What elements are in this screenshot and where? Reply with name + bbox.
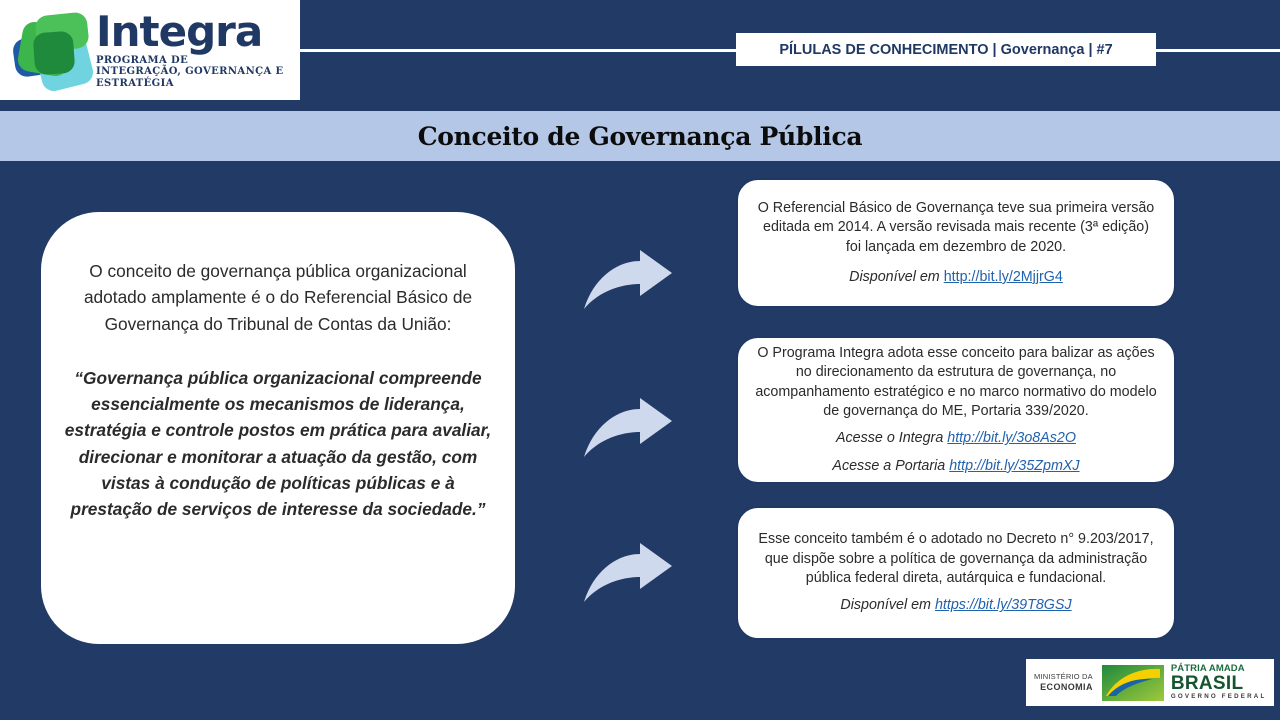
ministry-line2: ECONOMIA xyxy=(1034,682,1093,692)
info-card-body: O Referencial Básico de Governança teve … xyxy=(754,199,1158,257)
link-prefix: Disponível em xyxy=(840,597,935,613)
ministry-label: MINISTÉRIO DA ECONOMIA xyxy=(1034,673,1093,691)
logo-wordmark: Integra xyxy=(96,11,300,53)
knowledge-pill-banner: PÍLULAS DE CONHECIMENTO | Governança | #… xyxy=(736,33,1156,66)
logo-subtitle-line2: INTEGRAÇÃO, GOVERNANÇA E ESTRATÉGIA xyxy=(96,66,300,89)
brasil-line2: BRASIL xyxy=(1171,674,1267,694)
title-band: Conceito de Governança Pública xyxy=(0,111,1280,161)
info-card-link-line: Disponível em https://bit.ly/39T8GSJ xyxy=(754,596,1158,615)
info-card-reference: O Referencial Básico de Governança teve … xyxy=(736,178,1176,308)
portaria-link[interactable]: http://bit.ly/35ZpmXJ xyxy=(949,458,1079,474)
integra-logo-text: Integra PROGRAMA DE INTEGRAÇÃO, GOVERNAN… xyxy=(96,11,300,90)
page-header: Integra PROGRAMA DE INTEGRAÇÃO, GOVERNAN… xyxy=(0,0,1280,100)
concept-intro-text: O conceito de governança pública organiz… xyxy=(63,258,493,337)
government-logo-block: MINISTÉRIO DA ECONOMIA PÁTRIA AMADA BRAS… xyxy=(1026,659,1274,706)
concept-card: O conceito de governança pública organiz… xyxy=(41,212,515,644)
link-prefix: Acesse a Portaria xyxy=(832,458,949,474)
info-card-link-line: Disponível em http://bit.ly/2MjjrG4 xyxy=(754,268,1158,287)
curved-arrow-icon xyxy=(582,397,674,459)
link-prefix: Acesse o Integra xyxy=(836,430,947,446)
knowledge-pill-banner-label: PÍLULAS DE CONHECIMENTO | Governança | #… xyxy=(779,42,1112,58)
info-card-link-line: Acesse o Integra http://bit.ly/3o8As2O xyxy=(754,429,1158,448)
integra-squares-logo-icon xyxy=(8,10,92,90)
ministry-line1: MINISTÉRIO DA xyxy=(1034,673,1093,681)
link-prefix: Disponível em xyxy=(849,269,944,285)
concept-quote-text: “Governança pública organizacional compr… xyxy=(63,365,493,523)
brasil-line3: GOVERNO FEDERAL xyxy=(1171,694,1267,701)
logo-subtitle-line1: PROGRAMA DE xyxy=(96,55,300,67)
brasil-wordmark: PÁTRIA AMADA BRASIL GOVERNO FEDERAL xyxy=(1171,664,1267,700)
integra-logo-block: Integra PROGRAMA DE INTEGRAÇÃO, GOVERNAN… xyxy=(0,0,300,100)
decreto-link[interactable]: https://bit.ly/39T8GSJ xyxy=(935,597,1072,613)
reference-link[interactable]: http://bit.ly/2MjjrG4 xyxy=(944,269,1063,285)
page-title: Conceito de Governança Pública xyxy=(418,122,863,151)
brasil-flag-emblem-icon xyxy=(1102,665,1164,701)
curved-arrow-icon xyxy=(582,249,674,311)
integra-link[interactable]: http://bit.ly/3o8As2O xyxy=(947,430,1076,446)
info-card-link-line: Acesse a Portaria http://bit.ly/35ZpmXJ xyxy=(754,457,1158,476)
info-card-integra: O Programa Integra adota esse conceito p… xyxy=(736,336,1176,484)
info-card-body: O Programa Integra adota esse conceito p… xyxy=(754,344,1158,422)
info-card-body: Esse conceito também é o adotado no Decr… xyxy=(754,530,1158,588)
curved-arrow-icon xyxy=(582,542,674,604)
info-card-decreto: Esse conceito também é o adotado no Decr… xyxy=(736,506,1176,640)
